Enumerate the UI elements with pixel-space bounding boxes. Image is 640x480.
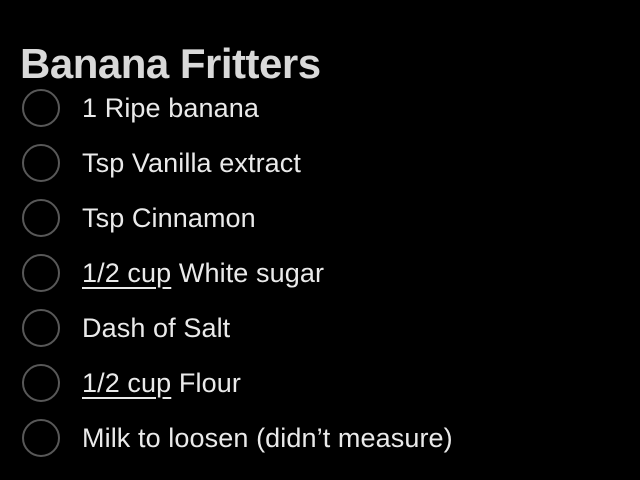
ingredient-label: 1/2 cup White sugar (82, 256, 324, 290)
ingredient-item[interactable]: Dash of Salt (0, 300, 640, 355)
ingredient-label: Tsp Vanilla extract (82, 146, 301, 180)
ingredient-name: Flour (179, 368, 241, 398)
checkbox-unchecked-icon[interactable] (22, 364, 60, 402)
checkbox-unchecked-icon[interactable] (22, 199, 60, 237)
ingredient-quantity: 1/2 cup (82, 258, 171, 288)
ingredient-name: Tsp Vanilla extract (82, 148, 301, 178)
ingredient-item[interactable]: 1 Ripe banana (0, 80, 640, 135)
ingredient-label: 1/2 cup Flour (82, 366, 241, 400)
checkbox-unchecked-icon[interactable] (22, 89, 60, 127)
ingredient-label: Milk to loosen (didn’t measure) (82, 421, 453, 455)
ingredient-checklist: 1 Ripe bananaTsp Vanilla extractTsp Cinn… (0, 80, 640, 465)
ingredient-name: Tsp Cinnamon (82, 203, 256, 233)
ingredient-item[interactable]: Tsp Vanilla extract (0, 135, 640, 190)
ingredient-item[interactable]: 1/2 cup White sugar (0, 245, 640, 300)
recipe-screen: Banana Fritters 1 Ripe bananaTsp Vanilla… (0, 0, 640, 480)
ingredient-name: 1 Ripe banana (82, 93, 259, 123)
checkbox-unchecked-icon[interactable] (22, 254, 60, 292)
ingredient-name: Milk to loosen (didn’t measure) (82, 423, 453, 453)
checkbox-unchecked-icon[interactable] (22, 144, 60, 182)
ingredient-label: Tsp Cinnamon (82, 201, 256, 235)
ingredient-item[interactable]: Milk to loosen (didn’t measure) (0, 410, 640, 465)
ingredient-name: Dash of Salt (82, 313, 230, 343)
ingredient-quantity: 1/2 cup (82, 368, 171, 398)
ingredient-item[interactable]: Tsp Cinnamon (0, 190, 640, 245)
checkbox-unchecked-icon[interactable] (22, 309, 60, 347)
ingredient-label: 1 Ripe banana (82, 91, 259, 125)
ingredient-label: Dash of Salt (82, 311, 230, 345)
ingredient-item[interactable]: 1/2 cup Flour (0, 355, 640, 410)
ingredient-name: White sugar (179, 258, 324, 288)
checkbox-unchecked-icon[interactable] (22, 419, 60, 457)
